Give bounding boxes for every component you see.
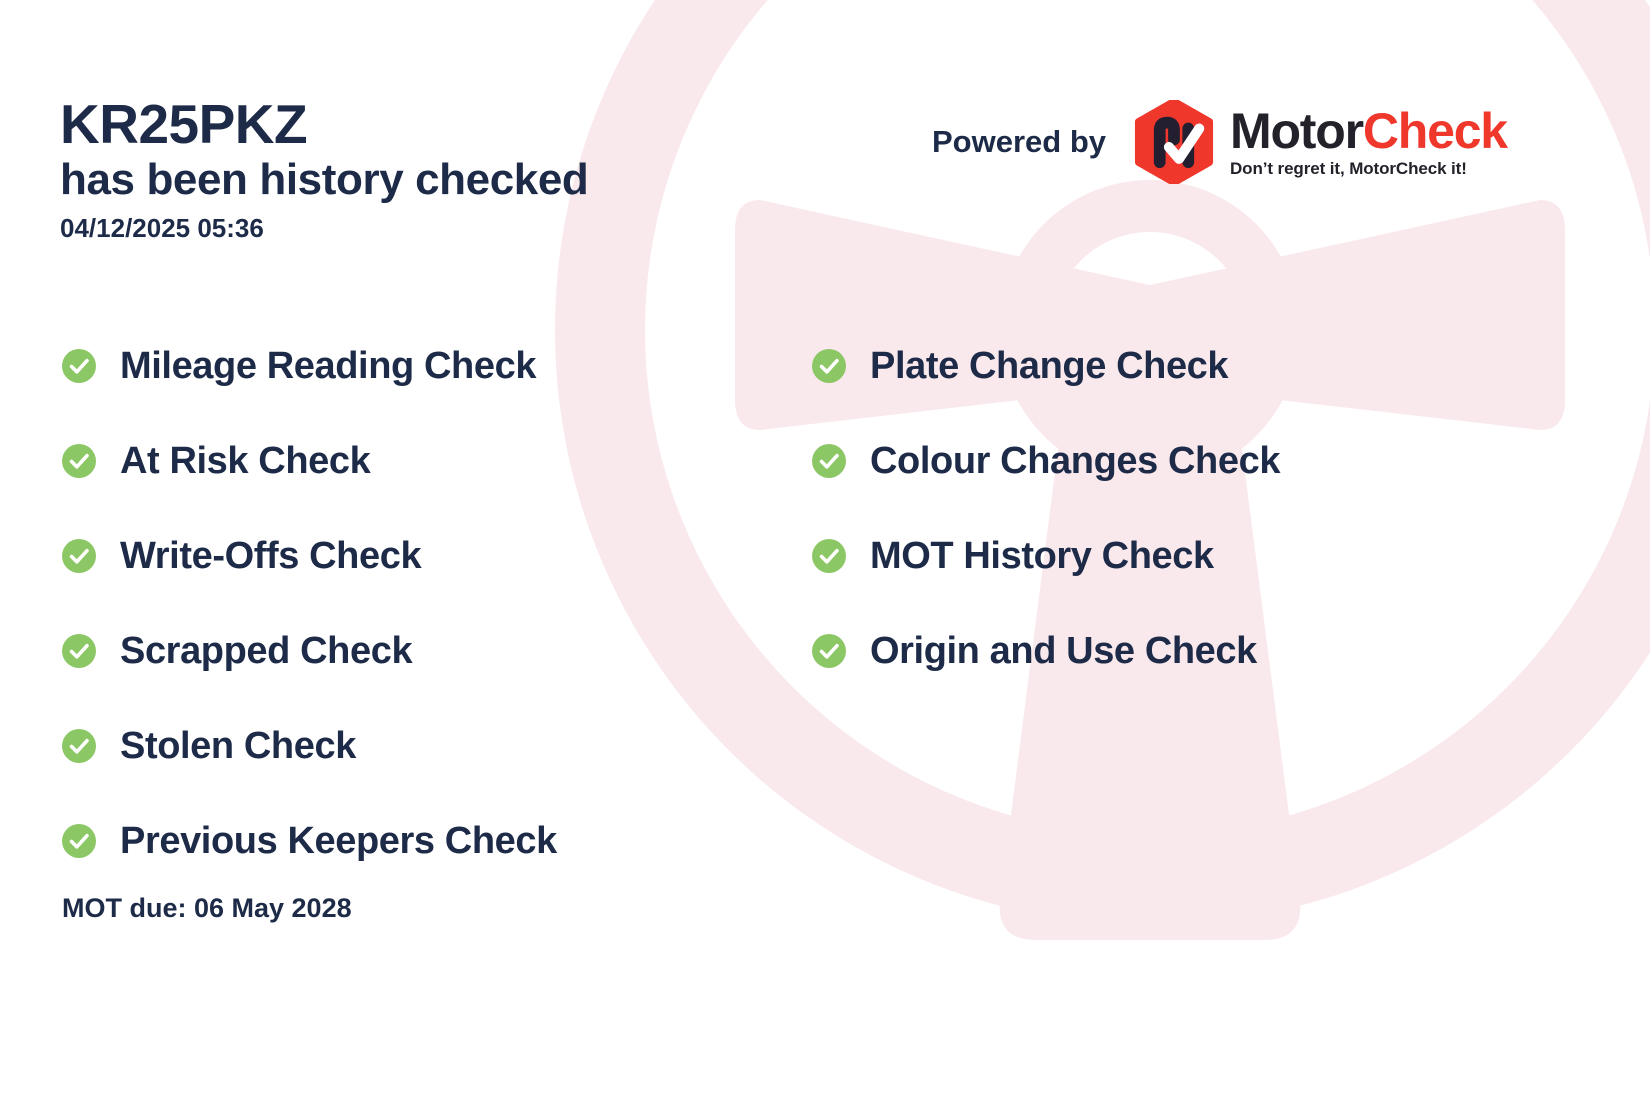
check-circle-icon [62, 729, 96, 763]
history-checked-status: has been history checked [60, 153, 588, 207]
brand-tagline: Don’t regret it, MotorCheck it! [1230, 159, 1507, 179]
check-item: Origin and Use Check [812, 603, 1532, 698]
check-item: Write-Offs Check [62, 508, 782, 603]
checks-right-column: Plate Change Check Colour Changes Check … [812, 318, 1532, 698]
check-label: Plate Change Check [870, 347, 1228, 385]
check-label: Write-Offs Check [120, 537, 421, 575]
check-label: Colour Changes Check [870, 442, 1280, 480]
wordmark-motor: Motor [1230, 103, 1363, 159]
check-item: Scrapped Check [62, 603, 782, 698]
check-item: Previous Keepers Check [62, 793, 782, 888]
check-label: Mileage Reading Check [120, 347, 536, 385]
check-label: MOT History Check [870, 537, 1214, 575]
check-label: Stolen Check [120, 727, 356, 765]
check-circle-icon [812, 444, 846, 478]
vehicle-header: KR25PKZ has been history checked 04/12/2… [60, 96, 588, 244]
check-circle-icon [812, 349, 846, 383]
mot-due-date: MOT due: 06 May 2028 [62, 893, 352, 924]
check-item: Mileage Reading Check [62, 318, 782, 413]
motorcheck-hexagon-logo-icon [1132, 100, 1216, 184]
wordmark-check: Check [1363, 103, 1507, 159]
motorcheck-logo[interactable]: MotorCheck Don’t regret it, MotorCheck i… [1132, 100, 1507, 184]
check-circle-icon [62, 444, 96, 478]
check-circle-icon [62, 349, 96, 383]
check-circle-icon [812, 539, 846, 573]
check-circle-icon [62, 634, 96, 668]
check-circle-icon [62, 539, 96, 573]
check-item: MOT History Check [812, 508, 1532, 603]
check-label: At Risk Check [120, 442, 370, 480]
check-label: Previous Keepers Check [120, 822, 557, 860]
check-label: Scrapped Check [120, 632, 412, 670]
powered-by-label: Powered by [932, 124, 1106, 160]
check-item: Plate Change Check [812, 318, 1532, 413]
check-circle-icon [62, 824, 96, 858]
history-check-summary-card: KR25PKZ has been history checked 04/12/2… [0, 0, 1650, 1100]
motorcheck-wordmark-block: MotorCheck Don’t regret it, MotorCheck i… [1230, 106, 1507, 179]
check-item: Stolen Check [62, 698, 782, 793]
motorcheck-wordmark: MotorCheck [1230, 106, 1507, 156]
powered-by-branding: Powered by MotorCheck Don’t regret it, M… [932, 100, 1507, 184]
checks-left-column: Mileage Reading Check At Risk Check Writ… [62, 318, 782, 888]
check-timestamp: 04/12/2025 05:36 [60, 213, 588, 244]
check-circle-icon [812, 634, 846, 668]
registration-plate: KR25PKZ [60, 96, 588, 153]
check-item: Colour Changes Check [812, 413, 1532, 508]
check-label: Origin and Use Check [870, 632, 1257, 670]
check-item: At Risk Check [62, 413, 782, 508]
